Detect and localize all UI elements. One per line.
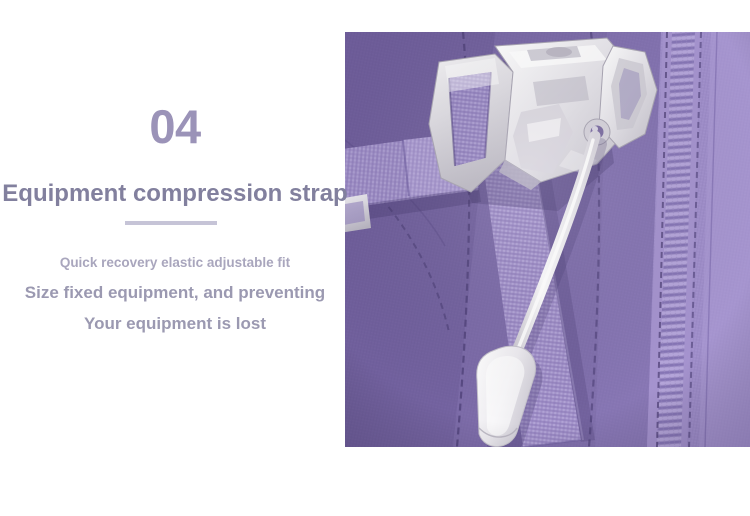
- text-panel: 04 Equipment compression strap Quick rec…: [0, 0, 350, 516]
- page-root: 04 Equipment compression strap Quick rec…: [0, 0, 750, 516]
- description-line-2: Size fixed equipment, and preventing: [0, 284, 350, 301]
- product-photo-svg: [345, 32, 750, 447]
- backpack-compression-strap-photo: [345, 32, 750, 447]
- description-line-1: Quick recovery elastic adjustable fit: [0, 256, 350, 270]
- description-line-3: Your equipment is lost: [0, 315, 350, 332]
- description-block: Quick recovery elastic adjustable fit Si…: [0, 256, 350, 332]
- divider-rule: [125, 221, 217, 225]
- page-title: Equipment compression strap: [0, 180, 350, 208]
- step-number: 04: [0, 103, 350, 150]
